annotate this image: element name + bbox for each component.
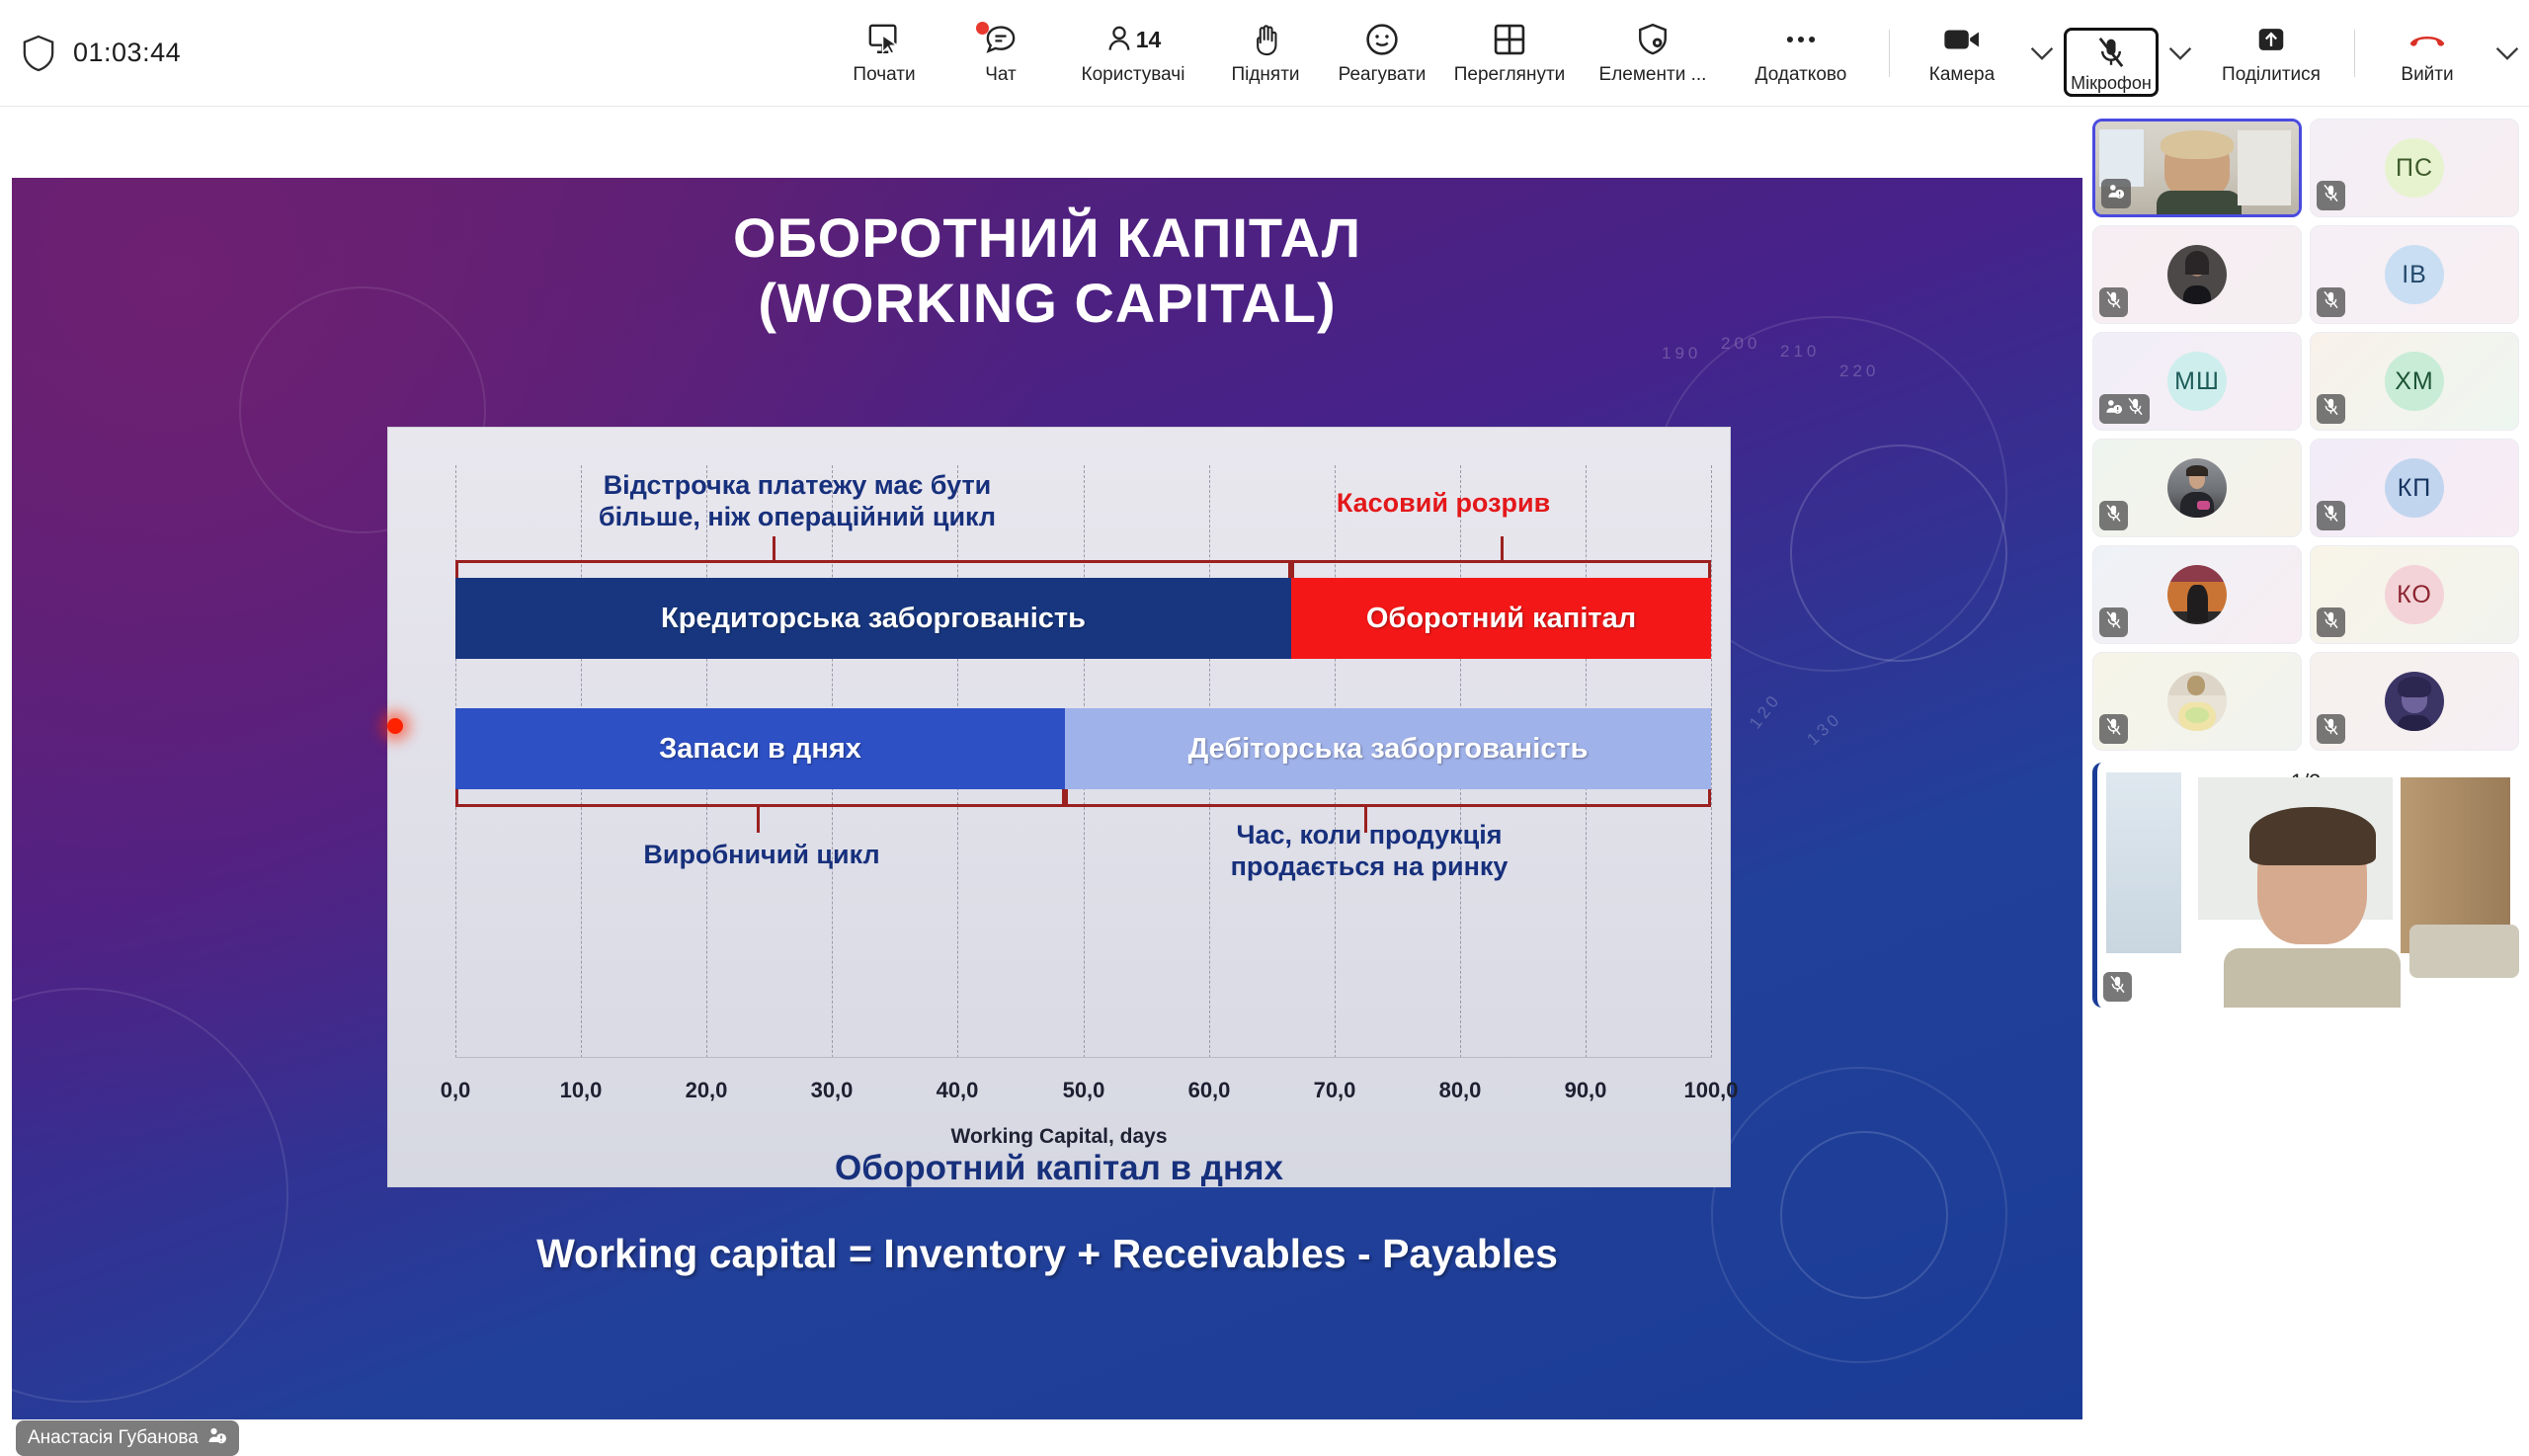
annotation-deferral-line1: Відстрочка платежу має бути [521, 469, 1074, 501]
decor-arc-number: 200 [1721, 334, 1760, 354]
raise-hand-label: Підняти [1231, 64, 1299, 86]
participant-tile-12[interactable] [2310, 652, 2519, 751]
ellipsis-icon [1783, 20, 1819, 59]
participants-label: Користувачі [1082, 64, 1185, 86]
raise-hand-button[interactable]: Підняти [1207, 0, 1324, 107]
participant-tile-9[interactable] [2092, 545, 2302, 644]
participant-badges [2317, 287, 2345, 317]
participant-avatar-photo [2167, 672, 2227, 731]
shield-gear-icon [1636, 20, 1670, 59]
participant-tile-6[interactable]: ХМ [2310, 332, 2519, 431]
decor-arc-number: 130 [1803, 708, 1845, 750]
axis-tick-label: 10,0 [560, 1078, 603, 1103]
participant-badges [2317, 714, 2345, 744]
participant-badges [2099, 501, 2128, 530]
presentation-stage: 190 200 210 220 100 110 120 130 ОБОРОТНИ… [0, 107, 2082, 1419]
presenter-name: Анастасія Губанова [28, 1427, 199, 1449]
participant-tile-7[interactable] [2092, 439, 2302, 537]
participant-avatar-initials: ПС [2385, 138, 2444, 198]
working-capital-chart: Відстрочка платежу має бути більше, ніж … [387, 427, 1731, 1187]
annotation-deferral: Відстрочка платежу має бути більше, ніж … [521, 469, 1074, 533]
participant-avatar-photo [2167, 565, 2227, 624]
axis-tick-label: 80,0 [1439, 1078, 1482, 1103]
start-share-button[interactable]: Почати [826, 0, 942, 107]
chart-title: Оборотний капітал в днях [388, 1149, 1730, 1188]
meeting-timer: 01:03:44 [73, 38, 181, 68]
participant-badges [2099, 287, 2128, 317]
laser-pointer [387, 718, 403, 734]
axis-tick-label: 70,0 [1314, 1078, 1356, 1103]
participant-badges [2317, 501, 2345, 530]
microphone-muted-icon [2323, 717, 2339, 741]
bar-inventory-days: Запаси в днях [455, 708, 1065, 789]
react-label: Реагувати [1339, 64, 1427, 86]
participant-badges [2101, 179, 2131, 208]
participant-avatar-photo [2167, 245, 2227, 304]
self-view-badges [2103, 972, 2132, 1002]
participants-count: 14 [1136, 27, 1162, 53]
microphone-muted-icon [2096, 37, 2126, 68]
microphone-chevron-down-icon[interactable] [2159, 0, 2202, 107]
decor-arc-number: 210 [1780, 342, 1820, 362]
microphone-muted-icon [2323, 397, 2339, 421]
microphone-muted-icon [2105, 717, 2122, 741]
participant-avatar-initials: ІВ [2385, 245, 2444, 304]
brace-working-capital [1291, 560, 1711, 578]
camera-label: Камера [1929, 64, 1995, 86]
camera-icon [1943, 20, 1981, 59]
slide-title-line1: ОБОРОТНИЙ КАПІТАЛ [12, 205, 2082, 271]
annotation-cash-gap: Касовий розрив [1275, 487, 1611, 519]
camera-button[interactable]: Камера [1904, 0, 2020, 107]
participants-button[interactable]: 14 Користувачі [1059, 0, 1207, 107]
axis-tick-label: 90,0 [1565, 1078, 1607, 1103]
more-label: Додатково [1755, 64, 1847, 86]
participant-tile-1[interactable] [2092, 119, 2302, 217]
participant-tile-10[interactable]: КО [2310, 545, 2519, 644]
toolbar-divider-1 [1889, 30, 1890, 77]
participant-avatar-photo [2385, 672, 2444, 731]
participant-tile-5[interactable]: МШ [2092, 332, 2302, 431]
chat-button[interactable]: Чат [942, 0, 1059, 107]
participant-badges [2099, 394, 2150, 424]
participant-badges [2317, 607, 2345, 637]
microphone-label: Мікрофон [2071, 73, 2152, 94]
annotation-sales-time-line2: продається на ринку [1137, 850, 1601, 882]
view-button[interactable]: Переглянути [1440, 0, 1579, 107]
slide-title-line2: (WORKING CAPITAL) [12, 271, 2082, 336]
participant-badges [2099, 607, 2128, 637]
microphone-muted-icon [2105, 610, 2122, 634]
participant-badges [2317, 181, 2345, 210]
participant-avatar-initials: ХМ [2385, 352, 2444, 411]
person-alert-icon [207, 1426, 227, 1450]
bar-accounts-receivable: Дебіторська заборгованість [1065, 708, 1711, 789]
react-button[interactable]: Реагувати [1324, 0, 1440, 107]
chart-subtitle: Working Capital, days [388, 1125, 1730, 1149]
chart-plot-area: Відстрочка платежу має бути більше, ніж … [455, 465, 1712, 1058]
share-screen-icon [865, 20, 903, 59]
controls-label: Елементи ... [1599, 64, 1707, 86]
shield-icon [22, 35, 55, 72]
chat-unread-badge [976, 22, 989, 35]
participant-badges [2099, 714, 2128, 744]
microphone-group: Мікрофон [2064, 0, 2202, 107]
raise-hand-icon [1251, 20, 1280, 59]
participant-avatar-initials: КП [2385, 458, 2444, 518]
phone-hangup-icon [2407, 20, 2447, 59]
more-button[interactable]: Додатково [1727, 0, 1875, 107]
axis-tick-label: 20,0 [686, 1078, 728, 1103]
brace-sales-time [1065, 789, 1711, 807]
participant-avatar-initials: МШ [2167, 352, 2227, 411]
axis-tick-label: 60,0 [1188, 1078, 1231, 1103]
gridline [1711, 465, 1712, 1058]
toolbar-divider-2 [2354, 30, 2355, 77]
person-icon: 14 [1105, 20, 1162, 59]
microphone-muted-icon [2323, 610, 2339, 634]
brace-tick [773, 536, 775, 562]
participant-avatar-initials: КО [2385, 565, 2444, 624]
participants-grid: ПС [2092, 119, 2519, 751]
leave-group: Вийти [2369, 0, 2529, 107]
microphone-button[interactable]: Мікрофон [2064, 28, 2159, 97]
decor-ring [12, 988, 288, 1403]
decor-arc-number: 190 [1662, 344, 1701, 364]
presenter-name-chip: Анастасія Губанова [16, 1420, 239, 1456]
chart-x-axis: 0,0 10,0 20,0 30,0 40,0 50,0 60,0 70,0 8… [455, 1078, 1712, 1117]
brace-payables [455, 560, 1291, 578]
view-label: Переглянути [1454, 64, 1566, 86]
decor-arc-number: 120 [1746, 689, 1786, 733]
participant-tile-8[interactable]: КП [2310, 439, 2519, 537]
grid-layout-icon [1493, 20, 1526, 59]
slide-title: ОБОРОТНИЙ КАПІТАЛ (WORKING CAPITAL) [12, 205, 2082, 336]
microphone-muted-icon [2323, 504, 2339, 527]
chat-label: Чат [985, 64, 1017, 86]
microphone-muted-icon [2109, 975, 2126, 999]
participant-tile-11[interactable] [2092, 652, 2302, 751]
participant-avatar-photo [2167, 458, 2227, 518]
share-label: Поділитися [2222, 64, 2321, 86]
share-button[interactable]: Поділитися [2202, 0, 2340, 107]
participant-badges [2317, 394, 2345, 424]
microphone-muted-icon [2105, 504, 2122, 527]
annotation-production-cycle: Виробничий цикл [554, 839, 969, 870]
participant-tile-3[interactable] [2092, 225, 2302, 324]
decor-ring [1790, 445, 2007, 662]
participants-panel: ПС [2082, 107, 2529, 1419]
leave-chevron-down-icon[interactable] [2486, 0, 2529, 107]
controls-button[interactable]: Елементи ... [1579, 0, 1727, 107]
shared-slide[interactable]: 190 200 210 220 100 110 120 130 ОБОРОТНИ… [12, 178, 2082, 1419]
participant-tile-2[interactable]: ПС [2310, 119, 2519, 217]
bar-accounts-payable: Кредиторська заборгованість [455, 578, 1291, 659]
person-alert-icon [2105, 398, 2123, 420]
start-share-label: Почати [853, 64, 915, 86]
axis-tick-label: 100,0 [1683, 1078, 1738, 1103]
top-toolbar: 01:03:44 Почати Чат [0, 0, 2529, 107]
microphone-muted-icon [2323, 184, 2339, 207]
brace-tick [757, 807, 760, 833]
leave-label: Вийти [2401, 64, 2453, 86]
microphone-muted-icon [2105, 290, 2122, 314]
camera-chevron-down-icon[interactable] [2020, 0, 2064, 107]
microphone-muted-icon [2127, 397, 2144, 421]
formula-text: Working capital = Inventory + Receivable… [12, 1231, 2082, 1277]
axis-tick-label: 30,0 [811, 1078, 854, 1103]
toolbar-actions: Почати Чат 14 Користувачі [826, 0, 2529, 107]
microphone-muted-icon [2323, 290, 2339, 314]
axis-tick-label: 0,0 [441, 1078, 471, 1103]
brace-production-cycle [455, 789, 1065, 807]
camera-group: Камера [1904, 0, 2064, 107]
bar-working-capital: Оборотний капітал [1291, 578, 1711, 659]
smiley-icon [1364, 20, 1400, 59]
leave-button[interactable]: Вийти [2369, 0, 2486, 107]
annotation-deferral-line2: більше, ніж операційний цикл [521, 501, 1074, 532]
brace-tick [1501, 536, 1504, 562]
toolbar-left: 01:03:44 [0, 35, 826, 72]
axis-tick-label: 50,0 [1063, 1078, 1105, 1103]
chart-baseline [455, 1057, 1712, 1058]
chat-icon [983, 20, 1019, 59]
self-view-tile[interactable] [2092, 763, 2519, 1008]
person-alert-icon [2107, 183, 2125, 204]
participant-tile-4[interactable]: ІВ [2310, 225, 2519, 324]
annotation-sales-time: Час, коли продукція продається на ринку [1137, 819, 1601, 883]
upload-arrow-icon [2254, 20, 2288, 59]
annotation-sales-time-line1: Час, коли продукція [1137, 819, 1601, 850]
axis-tick-label: 40,0 [937, 1078, 979, 1103]
decor-arc-number: 220 [1839, 362, 1879, 381]
